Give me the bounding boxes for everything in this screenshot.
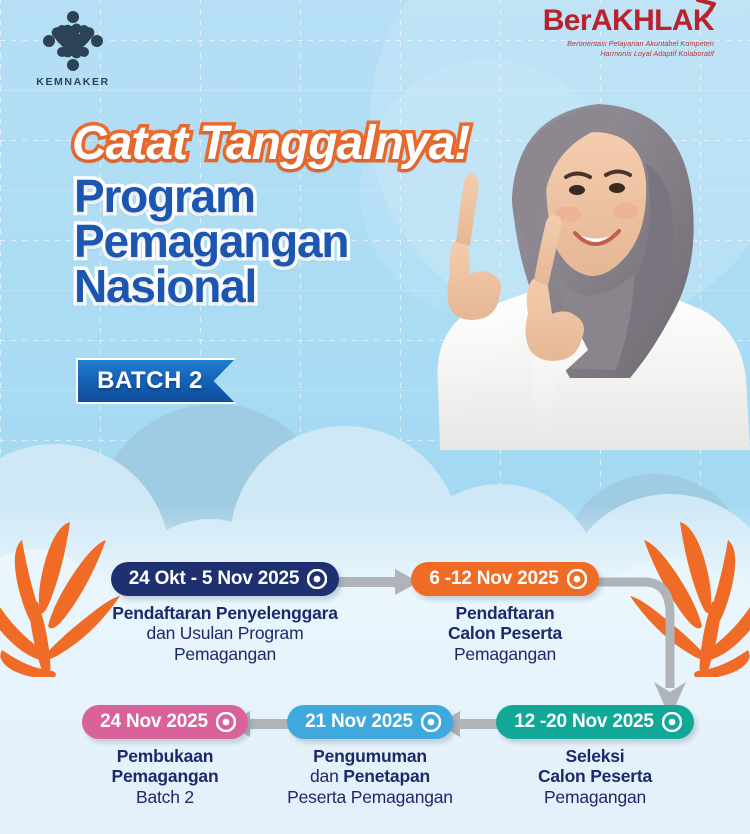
timeline-step-5-date-pill[interactable]: 24 Nov 2025 <box>82 705 248 739</box>
timeline-step-5-date: 24 Nov 2025 <box>100 711 208 733</box>
timeline-step-3-line1: Seleksi <box>480 746 710 766</box>
timeline-step-3-caption: Seleksi Calon Peserta Pemagangan <box>480 746 710 807</box>
timeline-step-1-line2: dan Usulan Program <box>95 623 355 643</box>
timeline-step-3-date: 12 -20 Nov 2025 <box>514 711 654 733</box>
target-icon <box>421 712 441 732</box>
timeline-step-4-line2: dan Penetapan <box>270 766 470 786</box>
timeline-step-2-date: 6 -12 Nov 2025 <box>429 568 558 590</box>
timeline-step-4-line3: Peserta Pemagangan <box>270 787 470 807</box>
timeline-step-1-line3: Pemagangan <box>95 644 355 664</box>
timeline-step-4[interactable]: 21 Nov 2025 Pengumuman dan Penetapan Pes… <box>270 705 470 807</box>
timeline-step-3-line2: Calon Peserta <box>480 766 710 786</box>
timeline-step-4-date: 21 Nov 2025 <box>305 711 413 733</box>
timeline-step-3-line3: Pemagangan <box>480 787 710 807</box>
timeline-step-4-line1: Pengumuman <box>270 746 470 766</box>
timeline-step-2-line1: Pendaftaran <box>405 603 605 623</box>
target-icon <box>307 569 327 589</box>
timeline-step-4-caption: Pengumuman dan Penetapan Peserta Pemagan… <box>270 746 470 807</box>
target-icon <box>567 569 587 589</box>
timeline-step-4-line2-bold: Penetapan <box>343 766 430 786</box>
timeline-step-5[interactable]: 24 Nov 2025 Pembukaan Pemagangan Batch 2 <box>70 705 260 807</box>
timeline-step-1-caption: Pendaftaran Penyelenggara dan Usulan Pro… <box>95 603 355 664</box>
connector-arrow-right-1 <box>333 566 421 598</box>
timeline-step-5-line1: Pembukaan <box>70 746 260 766</box>
timeline-step-2-line3: Pemagangan <box>405 644 605 664</box>
timeline-step-1-date-pill[interactable]: 24 Okt - 5 Nov 2025 <box>111 562 339 596</box>
target-icon <box>216 712 236 732</box>
timeline-step-3-date-pill[interactable]: 12 -20 Nov 2025 <box>496 705 694 739</box>
timeline-step-4-line2-pre: dan <box>310 766 343 786</box>
timeline-step-3[interactable]: 12 -20 Nov 2025 Seleksi Calon Peserta Pe… <box>480 705 710 807</box>
timeline-step-1-line1: Pendaftaran Penyelenggara <box>95 603 355 623</box>
timeline-step-5-line2: Pemagangan <box>70 766 260 786</box>
timeline-step-2-caption: Pendaftaran Calon Peserta Pemagangan <box>405 603 605 664</box>
timeline-step-5-caption: Pembukaan Pemagangan Batch 2 <box>70 746 260 807</box>
timeline-step-4-date-pill[interactable]: 21 Nov 2025 <box>287 705 453 739</box>
target-icon <box>662 712 682 732</box>
timeline-step-1-date: 24 Okt - 5 Nov 2025 <box>129 568 299 590</box>
timeline-step-2-date-pill[interactable]: 6 -12 Nov 2025 <box>411 562 598 596</box>
timeline-step-2-line2: Calon Peserta <box>405 623 605 643</box>
timeline-step-1[interactable]: 24 Okt - 5 Nov 2025 Pendaftaran Penyelen… <box>95 562 355 664</box>
timeline: 24 Okt - 5 Nov 2025 Pendaftaran Penyelen… <box>0 0 750 834</box>
poster-canvas: KEMNAKER BerAKHLAK Berorientasi Pelayana… <box>0 0 750 834</box>
timeline-step-5-line3: Batch 2 <box>70 787 260 807</box>
timeline-step-2[interactable]: 6 -12 Nov 2025 Pendaftaran Calon Peserta… <box>405 562 605 664</box>
